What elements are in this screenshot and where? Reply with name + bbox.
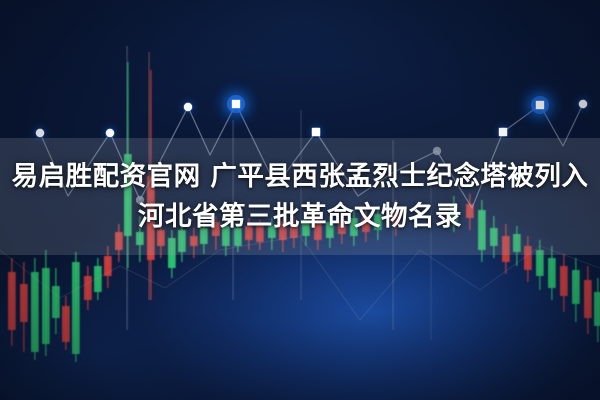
- candle-body: [548, 258, 556, 288]
- candle-body: [72, 262, 80, 354]
- candle-body: [594, 292, 600, 326]
- title-block: 易启胜配资官网 广平县西张孟烈士纪念塔被列入 河北省第三批革命文物名录: [0, 138, 600, 255]
- node-square-marker: [536, 101, 544, 109]
- candle-body: [8, 272, 16, 330]
- node-circle-marker: [579, 100, 587, 108]
- node-square-marker: [232, 100, 240, 108]
- node-square-marker: [499, 128, 507, 136]
- node-circle-marker: [106, 129, 114, 137]
- banner-image: 易启胜配资官网 广平县西张孟烈士纪念塔被列入 河北省第三批革命文物名录: [0, 0, 600, 400]
- candle-body: [31, 272, 39, 352]
- title-line-2: 河北省第三批革命文物名录: [138, 200, 462, 234]
- candle-body: [52, 286, 60, 318]
- candle-body: [42, 268, 50, 344]
- candle-body: [20, 284, 28, 322]
- title-line-1: 易启胜配资官网 广平县西张孟烈士纪念塔被列入: [12, 160, 589, 194]
- candle-body: [84, 276, 92, 300]
- node-square-marker: [312, 128, 320, 136]
- node-circle-marker: [36, 129, 44, 137]
- node-circle-marker: [184, 103, 192, 111]
- candle-body: [572, 270, 580, 304]
- candle-body: [62, 306, 70, 342]
- candle-body: [560, 266, 568, 296]
- candle-body: [584, 280, 592, 318]
